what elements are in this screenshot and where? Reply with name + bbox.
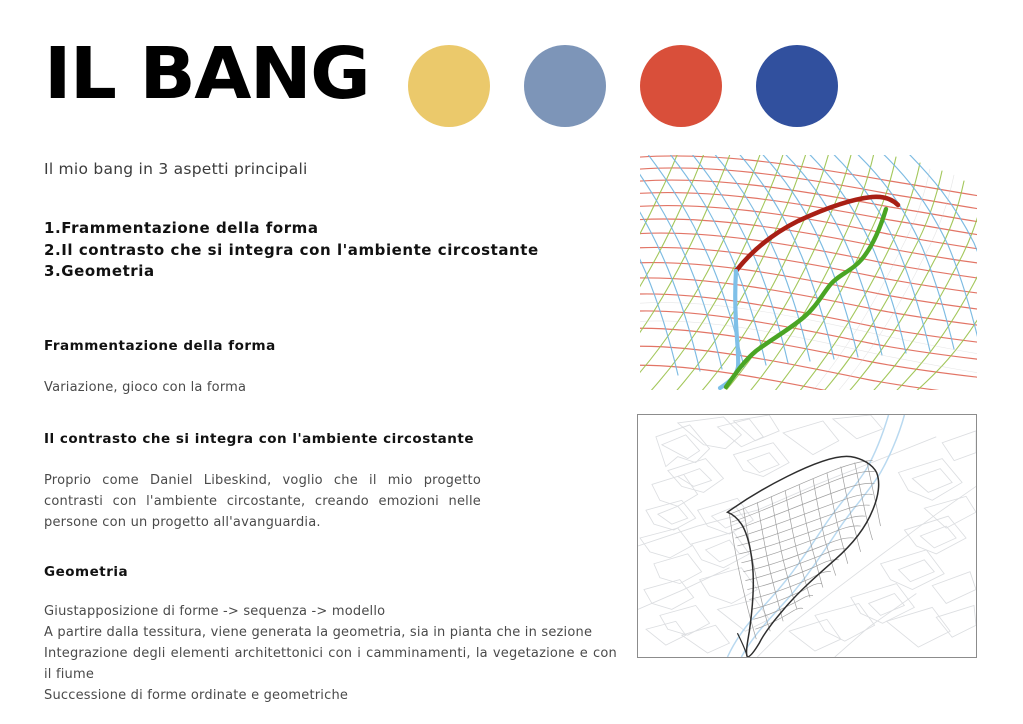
color-swatch-row bbox=[408, 45, 838, 127]
geometria-line-4: Successione di forme ordinate e geometri… bbox=[44, 685, 619, 706]
swatch-sand bbox=[408, 45, 490, 127]
swatch-red-orange bbox=[640, 45, 722, 127]
aspect-item-3: 3.Geometria bbox=[44, 261, 619, 283]
section-heading-contrasto: Il contrasto che si integra con l'ambien… bbox=[44, 430, 619, 448]
page-title: IL BANG bbox=[44, 36, 369, 112]
lead-paragraph: Il mio bang in 3 aspetti principali bbox=[44, 158, 619, 180]
section-body-geometria: Giustapposizione di forme -> sequenza ->… bbox=[44, 601, 619, 706]
aspect-item-2: 2.Il contrasto che si integra con l'ambi… bbox=[44, 240, 619, 262]
geometria-line-2: A partire dalla tessitura, viene generat… bbox=[44, 622, 619, 643]
geometria-line-1: Giustapposizione di forme -> sequenza ->… bbox=[44, 601, 619, 622]
section-body-frammentazione: Variazione, gioco con la forma bbox=[44, 377, 619, 398]
aspect-list: 1.Frammentazione della forma 2.Il contra… bbox=[44, 218, 619, 283]
plan-svg bbox=[638, 415, 976, 657]
section-heading-frammentazione: Frammentazione della forma bbox=[44, 337, 619, 355]
section-heading-geometria: Geometria bbox=[44, 563, 619, 581]
swatch-slate-blue bbox=[524, 45, 606, 127]
section-body-contrasto: Proprio come Daniel Libeskind, voglio ch… bbox=[44, 470, 481, 533]
mesh-svg bbox=[640, 155, 977, 390]
colored-mesh-diagram bbox=[640, 155, 977, 390]
geometria-line-3: Integrazione degli elementi architettoni… bbox=[44, 643, 617, 685]
site-plan-diagram bbox=[637, 414, 977, 658]
aspect-item-1: 1.Frammentazione della forma bbox=[44, 218, 619, 240]
swatch-deep-blue bbox=[756, 45, 838, 127]
poster-page: IL BANG Il mio bang in 3 aspetti princip… bbox=[0, 0, 1023, 724]
text-column: Il mio bang in 3 aspetti principali 1.Fr… bbox=[44, 158, 619, 706]
